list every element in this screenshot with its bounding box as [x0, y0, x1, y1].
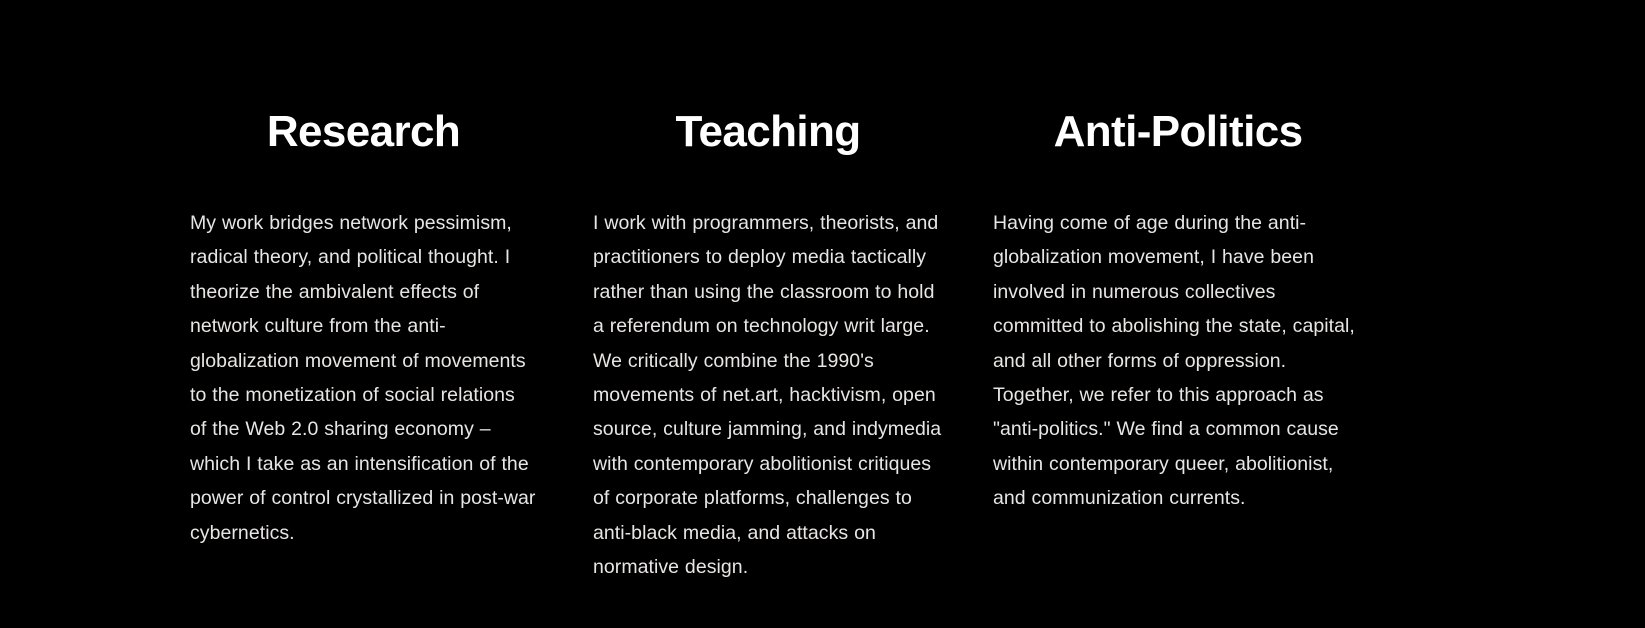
column-body-teaching: I work with programmers, theorists, and … [593, 206, 943, 584]
column-research: Research My work bridges network pessimi… [150, 0, 561, 550]
column-body-research: My work bridges network pessimism, radic… [190, 206, 537, 550]
column-teaching: Teaching I work with programmers, theori… [561, 0, 961, 584]
column-heading-anti-politics: Anti-Politics [1054, 106, 1303, 158]
three-column-section: Research My work bridges network pessimi… [150, 0, 1460, 628]
column-body-anti-politics: Having come of age during the anti-globa… [993, 206, 1363, 516]
page-root: Research My work bridges network pessimi… [0, 0, 1645, 628]
column-heading-teaching: Teaching [675, 106, 860, 158]
column-heading-research: Research [267, 106, 460, 158]
column-anti-politics: Anti-Politics Having come of age during … [961, 0, 1381, 516]
